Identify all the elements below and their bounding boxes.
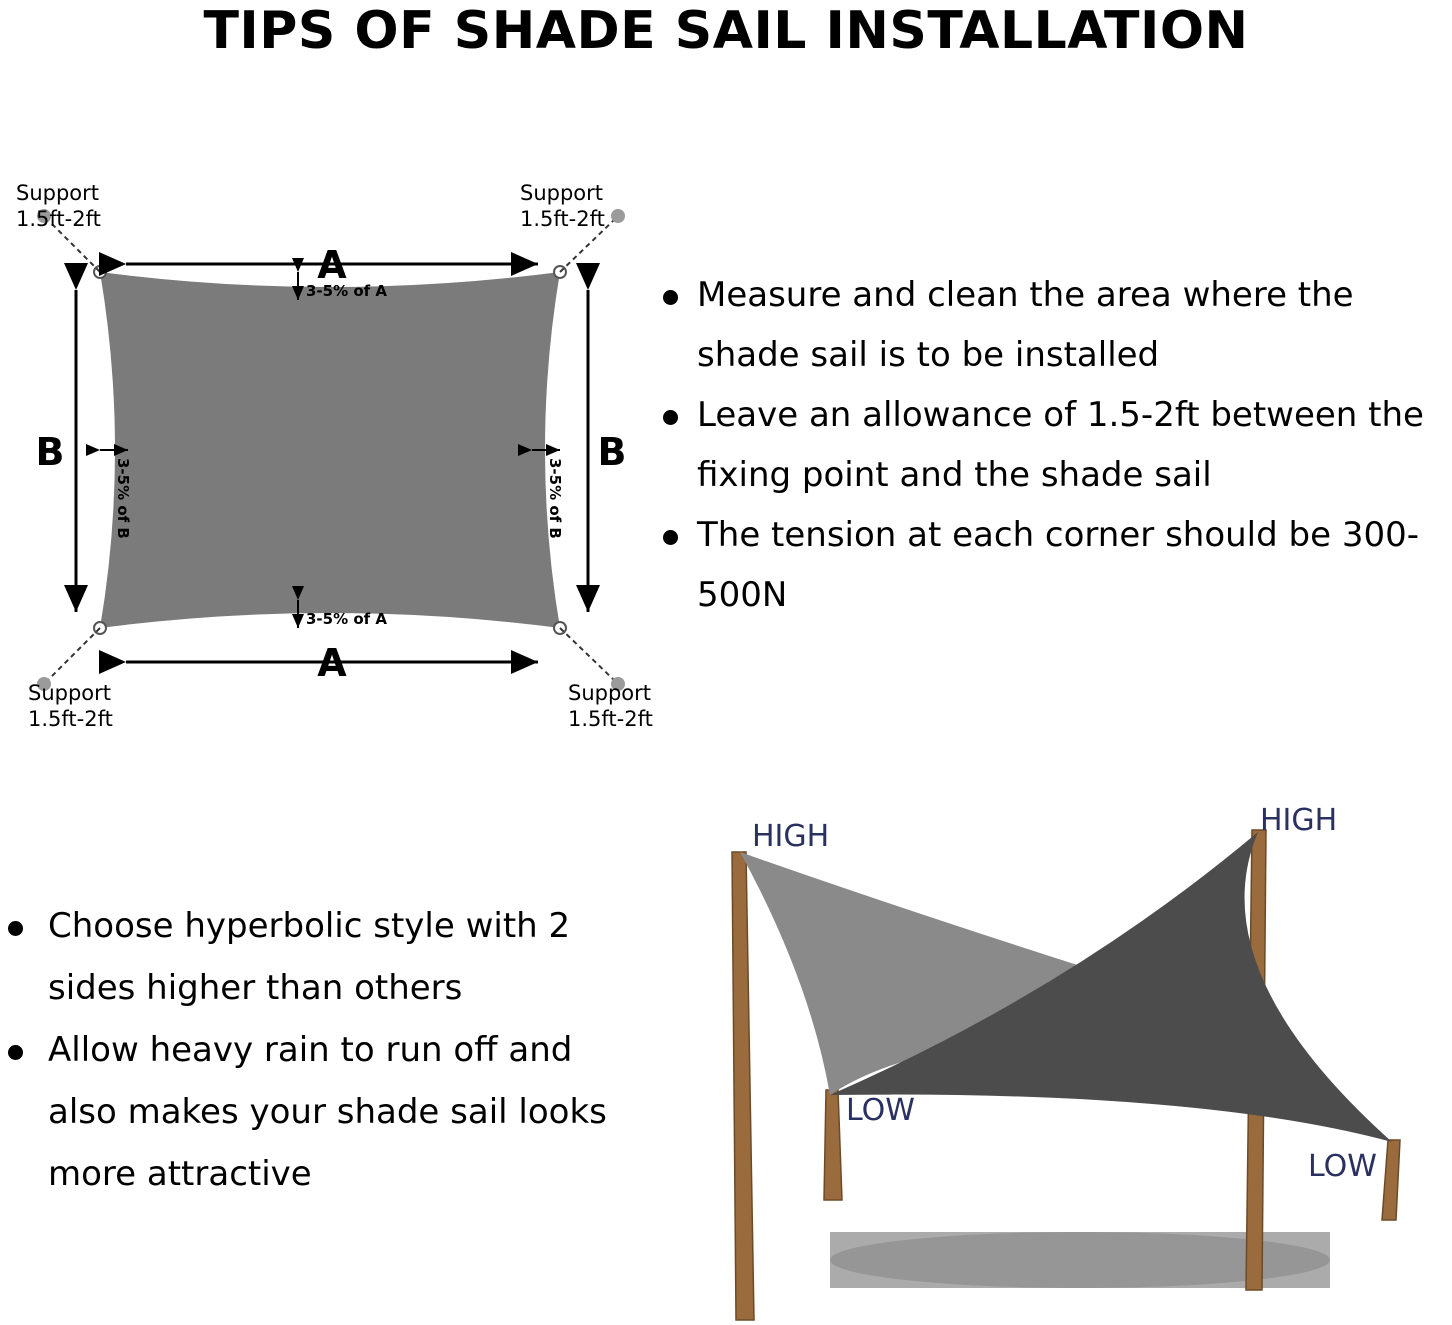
list-item: Choose hyperbolic style with 2 sides hig… <box>0 895 640 1019</box>
label-dim-a-bottom: A <box>317 641 347 685</box>
hyperbolic-sail-diagram: HIGH HIGH LOW LOW <box>640 790 1452 1325</box>
label-curve-bottom: 3-5% of A <box>306 610 387 628</box>
sail-shape <box>100 272 560 628</box>
label-support-top-right-line1: Support <box>520 181 603 205</box>
label-curve-left: 3-5% of B <box>114 458 132 539</box>
label-dim-b-left: B <box>36 430 65 474</box>
support-dot-top-right <box>611 209 625 223</box>
support-line-bottom-left <box>48 628 100 680</box>
support-line-bottom-right <box>560 628 614 680</box>
rectangle-sail-diagram: A A B B 3-5% of A 3-5% of A 3-5% of B 3-… <box>0 150 660 750</box>
label-support-top-right-line2: 1.5ft-2ft <box>520 207 605 231</box>
list-item: Allow heavy rain to run off and also mak… <box>0 1019 640 1205</box>
label-support-top-left-line2: 1.5ft-2ft <box>16 207 101 231</box>
label-curve-right: 3-5% of B <box>546 458 564 539</box>
post-high-left <box>732 852 754 1320</box>
label-dim-b-right: B <box>598 430 627 474</box>
label-support-bottom-right-line2: 1.5ft-2ft <box>568 707 653 731</box>
post-low-right <box>1382 1140 1400 1220</box>
label-low-right: LOW <box>1308 1149 1377 1184</box>
installation-tips-list: Measure and clean the area where the sha… <box>645 265 1452 625</box>
hyperbolic-tips-list: Choose hyperbolic style with 2 sides hig… <box>0 895 640 1205</box>
label-support-bottom-right-line1: Support <box>568 681 651 705</box>
label-curve-top: 3-5% of A <box>306 282 387 300</box>
label-support-bottom-left-line1: Support <box>28 681 111 705</box>
list-item: Measure and clean the area where the sha… <box>645 265 1452 385</box>
label-high-right: HIGH <box>1260 803 1337 838</box>
list-item: The tension at each corner should be 300… <box>645 505 1452 625</box>
post-low-left <box>824 1090 842 1200</box>
label-support-bottom-left-line2: 1.5ft-2ft <box>28 707 113 731</box>
label-low-left: LOW <box>846 1093 915 1128</box>
label-support-top-left-line1: Support <box>16 181 99 205</box>
label-dim-a-top: A <box>317 243 347 287</box>
list-item: Leave an allowance of 1.5-2ft between th… <box>645 385 1452 505</box>
page-title: TIPS OF SHADE SAIL INSTALLATION <box>0 0 1452 62</box>
label-high-left: HIGH <box>752 819 829 854</box>
